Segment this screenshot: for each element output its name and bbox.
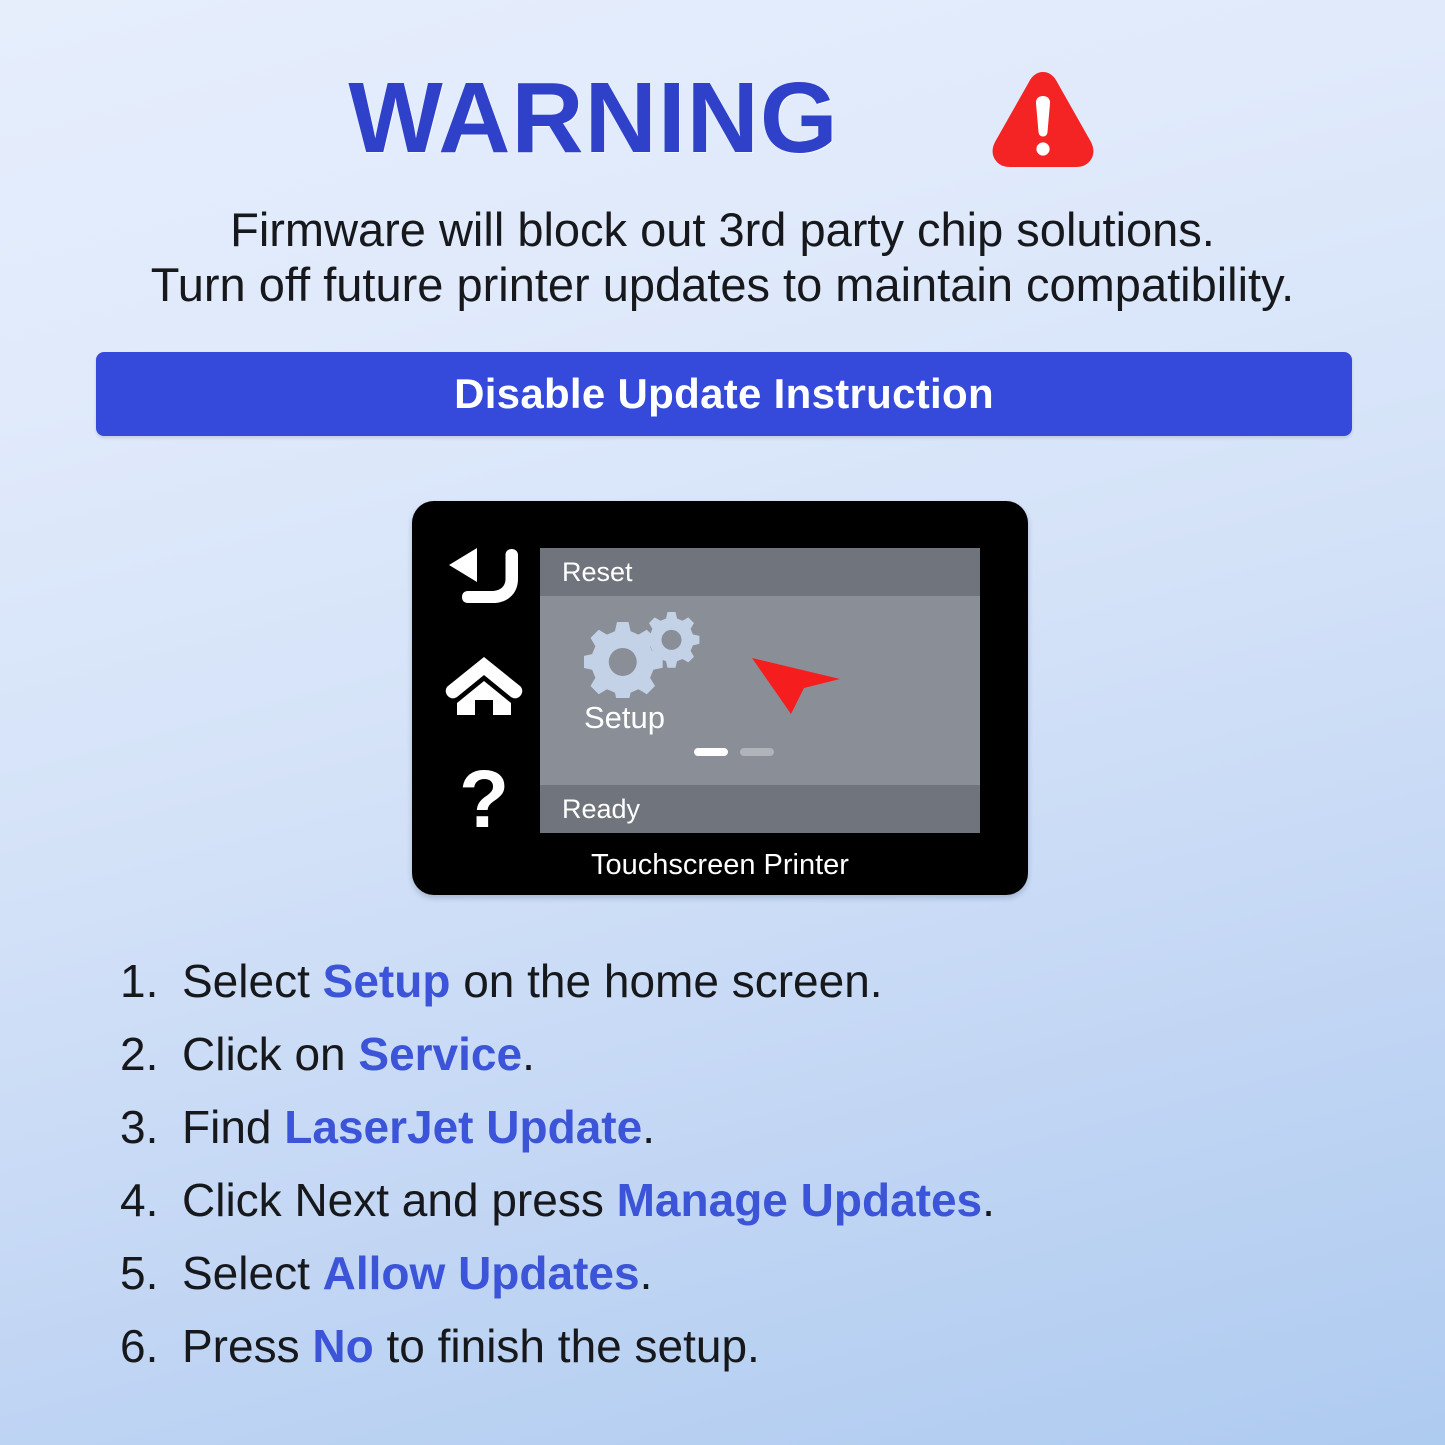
step-text: Find LaserJet Update. — [182, 1104, 655, 1150]
subtitle-block: Firmware will block out 3rd party chip s… — [0, 202, 1445, 313]
step-text: Click on Service. — [182, 1031, 535, 1077]
step-highlight-term: Manage Updates — [617, 1174, 983, 1226]
screen-body: Setup — [540, 596, 980, 785]
step-highlight-term: No — [312, 1320, 373, 1372]
warning-triangle-icon — [989, 68, 1097, 168]
step-plain-text: on the home screen. — [450, 955, 882, 1007]
disable-update-instruction-banner[interactable]: Disable Update Instruction — [96, 352, 1352, 436]
device-caption: Touchscreen Printer — [412, 849, 1028, 882]
back-arrow-icon[interactable] — [447, 545, 521, 607]
screen-status-bar: Ready — [540, 785, 980, 833]
setup-tile-label[interactable]: Setup — [584, 700, 665, 736]
step-number: 4. — [120, 1177, 182, 1223]
step-highlight-term: Setup — [323, 955, 451, 1007]
red-arrow-cursor-icon — [750, 646, 842, 716]
instruction-steps-list: 1.Select Setup on the home screen.2.Clic… — [120, 958, 1320, 1396]
subtitle-line-2: Turn off future printer updates to maint… — [0, 257, 1445, 312]
step-text: Press No to finish the setup. — [182, 1323, 760, 1369]
screen-pagination[interactable] — [694, 748, 774, 756]
screen-title-bar: Reset — [540, 548, 980, 596]
step-number: 3. — [120, 1104, 182, 1150]
home-icon[interactable] — [445, 655, 523, 717]
step-item: 5.Select Allow Updates. — [120, 1250, 1320, 1296]
step-number: 6. — [120, 1323, 182, 1369]
page-title: WARNING — [348, 68, 838, 168]
step-text: Click Next and press Manage Updates. — [182, 1177, 995, 1223]
step-plain-text: . — [982, 1174, 995, 1226]
printer-nav-rail: ? — [428, 535, 540, 845]
step-plain-text: Click Next and press — [182, 1174, 617, 1226]
step-item: 1.Select Setup on the home screen. — [120, 958, 1320, 1004]
step-plain-text: . — [522, 1028, 535, 1080]
step-item: 6.Press No to finish the setup. — [120, 1323, 1320, 1369]
step-number: 5. — [120, 1250, 182, 1296]
step-item: 4.Click Next and press Manage Updates. — [120, 1177, 1320, 1223]
step-highlight-term: LaserJet Update — [284, 1101, 642, 1153]
gears-icon — [584, 606, 702, 698]
step-highlight-term: Service — [358, 1028, 522, 1080]
step-plain-text: Press — [182, 1320, 312, 1372]
pagination-dot-active[interactable] — [694, 748, 728, 756]
touchscreen-printer-illustration: ? Reset Setup — [412, 501, 1028, 895]
step-text: Select Setup on the home screen. — [182, 958, 883, 1004]
warning-header: WARNING — [0, 58, 1445, 178]
screen-title: Reset — [562, 557, 633, 588]
help-question-icon[interactable]: ? — [459, 765, 509, 835]
step-item: 2.Click on Service. — [120, 1031, 1320, 1077]
step-plain-text: . — [640, 1247, 653, 1299]
step-plain-text: Click on — [182, 1028, 358, 1080]
step-plain-text: . — [642, 1101, 655, 1153]
step-highlight-term: Allow Updates — [323, 1247, 640, 1299]
step-plain-text: Select — [182, 1247, 323, 1299]
pagination-dot-inactive[interactable] — [740, 748, 774, 756]
printer-screen: Reset Setup — [540, 548, 980, 833]
step-number: 2. — [120, 1031, 182, 1077]
step-plain-text: Find — [182, 1101, 284, 1153]
step-plain-text: Select — [182, 955, 323, 1007]
step-number: 1. — [120, 958, 182, 1004]
step-item: 3.Find LaserJet Update. — [120, 1104, 1320, 1150]
subtitle-line-1: Firmware will block out 3rd party chip s… — [0, 202, 1445, 257]
screen-status-text: Ready — [562, 794, 640, 825]
step-text: Select Allow Updates. — [182, 1250, 652, 1296]
step-plain-text: to finish the setup. — [374, 1320, 760, 1372]
banner-label: Disable Update Instruction — [454, 370, 994, 418]
